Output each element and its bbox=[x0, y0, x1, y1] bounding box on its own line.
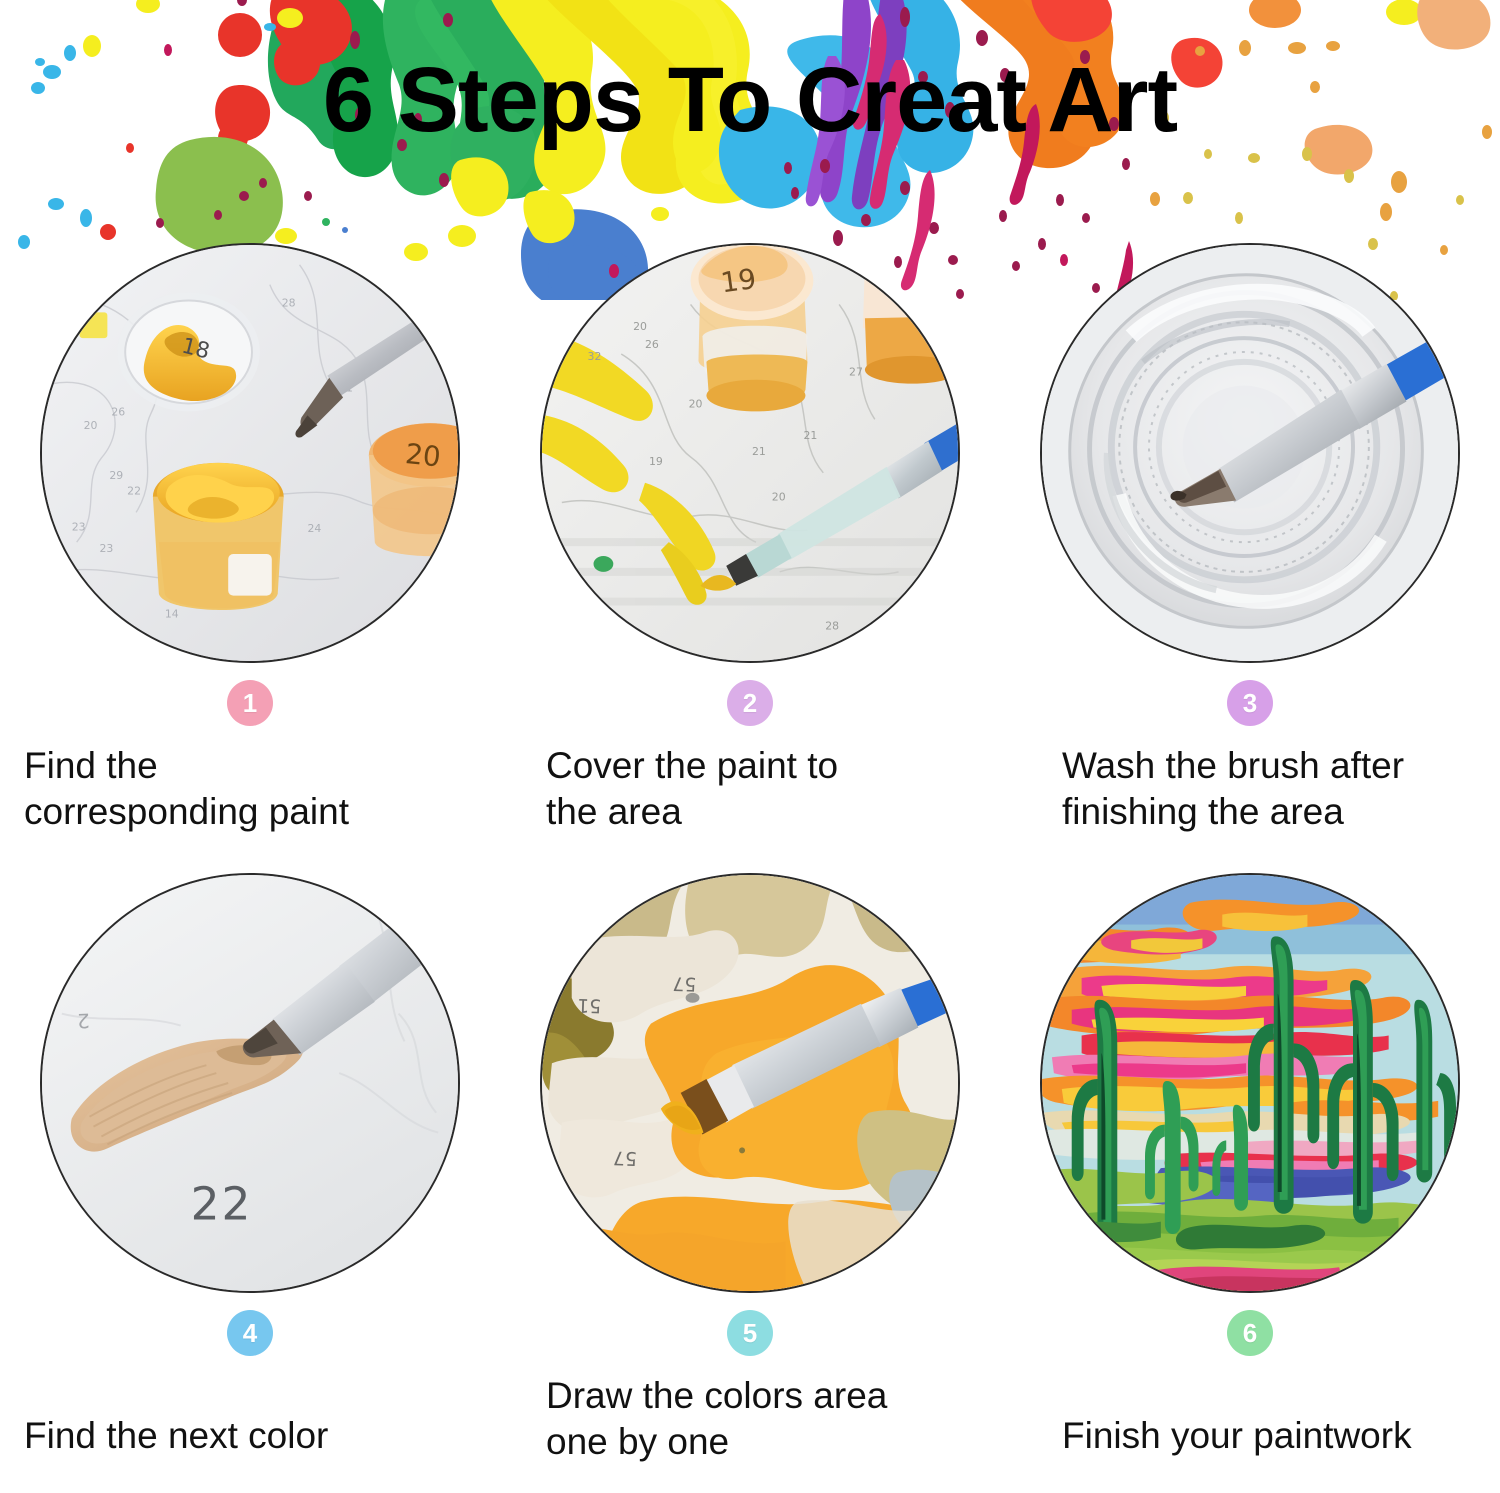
svg-text:22: 22 bbox=[127, 485, 141, 498]
step-5-photo-wrap: 51 57 57 bbox=[540, 873, 960, 1293]
next-color-swatch-photo: 2 bbox=[40, 873, 460, 1293]
step-badge-5: 5 bbox=[727, 1310, 773, 1356]
svg-text:19: 19 bbox=[719, 262, 759, 300]
steps-grid: 2026 2922 2323 2821 2414 18 bbox=[0, 0, 1500, 1493]
svg-text:19: 19 bbox=[649, 455, 663, 468]
step-card-5: 51 57 57 bbox=[500, 873, 1000, 1493]
step-caption-2: Cover the paint to the area bbox=[546, 743, 990, 836]
page-title: 6 Steps To Creat Art bbox=[0, 52, 1500, 149]
brush-in-water-jar-photo bbox=[1040, 243, 1460, 663]
svg-text:32: 32 bbox=[588, 350, 602, 363]
svg-text:20: 20 bbox=[404, 437, 443, 474]
step-6-photo-wrap bbox=[1040, 873, 1460, 1293]
step-caption-6: Finish your paintwork bbox=[1062, 1413, 1500, 1459]
step-badge-4: 4 bbox=[227, 1310, 273, 1356]
step-card-6: 6 Finish your paintwork bbox=[1000, 873, 1500, 1493]
step-2-photo-wrap: 2032 2620 1921 2021 2728 19 bbox=[540, 243, 960, 663]
svg-text:28: 28 bbox=[282, 296, 296, 309]
step-3-photo-wrap bbox=[1040, 243, 1460, 663]
step-badge-3: 3 bbox=[1227, 680, 1273, 726]
svg-text:20: 20 bbox=[84, 419, 98, 432]
svg-text:21: 21 bbox=[803, 429, 817, 442]
step-card-1: 2026 2922 2323 2821 2414 18 bbox=[0, 243, 500, 863]
step-caption-3: Wash the brush after finishing the area bbox=[1062, 743, 1500, 836]
svg-text:20: 20 bbox=[633, 320, 647, 333]
svg-text:21: 21 bbox=[752, 445, 766, 458]
svg-text:2: 2 bbox=[77, 1009, 90, 1032]
svg-text:20: 20 bbox=[689, 397, 703, 410]
svg-text:29: 29 bbox=[109, 469, 123, 482]
drawing-color-areas-photo: 51 57 57 bbox=[540, 873, 960, 1293]
svg-text:23: 23 bbox=[72, 520, 86, 533]
svg-text:27: 27 bbox=[849, 366, 863, 379]
svg-text:22: 22 bbox=[191, 1178, 253, 1231]
svg-text:23: 23 bbox=[99, 542, 113, 555]
step-badge-2: 2 bbox=[727, 680, 773, 726]
painting-canvas-area-photo: 2032 2620 1921 2021 2728 19 bbox=[540, 243, 960, 663]
finished-cactus-painting-photo bbox=[1040, 873, 1460, 1293]
svg-text:14: 14 bbox=[165, 607, 179, 620]
svg-text:28: 28 bbox=[825, 619, 839, 632]
step-caption-5: Draw the colors area one by one bbox=[546, 1373, 990, 1466]
svg-text:26: 26 bbox=[111, 405, 125, 418]
svg-text:57: 57 bbox=[613, 1147, 638, 1169]
step-card-3: 3 Wash the brush after finishing the are… bbox=[1000, 243, 1500, 863]
svg-text:26: 26 bbox=[645, 338, 659, 351]
svg-text:51: 51 bbox=[577, 994, 602, 1016]
step-1-photo-wrap: 2026 2922 2323 2821 2414 18 bbox=[40, 243, 460, 663]
step-badge-1: 1 bbox=[227, 680, 273, 726]
svg-text:57: 57 bbox=[672, 972, 697, 994]
poster-page: 6 Steps To Creat Art bbox=[0, 0, 1500, 1493]
step-caption-1: Find the corresponding paint bbox=[24, 743, 490, 836]
step-card-4: 2 bbox=[0, 873, 500, 1493]
step-4-photo-wrap: 2 bbox=[40, 873, 460, 1293]
step-caption-4: Find the next color bbox=[24, 1413, 490, 1459]
step-badge-6: 6 bbox=[1227, 1310, 1273, 1356]
svg-text:20: 20 bbox=[772, 491, 786, 504]
step-card-2: 2032 2620 1921 2021 2728 19 bbox=[500, 243, 1000, 863]
paint-pot-and-brush-photo: 2026 2922 2323 2821 2414 18 bbox=[40, 243, 460, 663]
svg-text:24: 24 bbox=[307, 522, 321, 535]
